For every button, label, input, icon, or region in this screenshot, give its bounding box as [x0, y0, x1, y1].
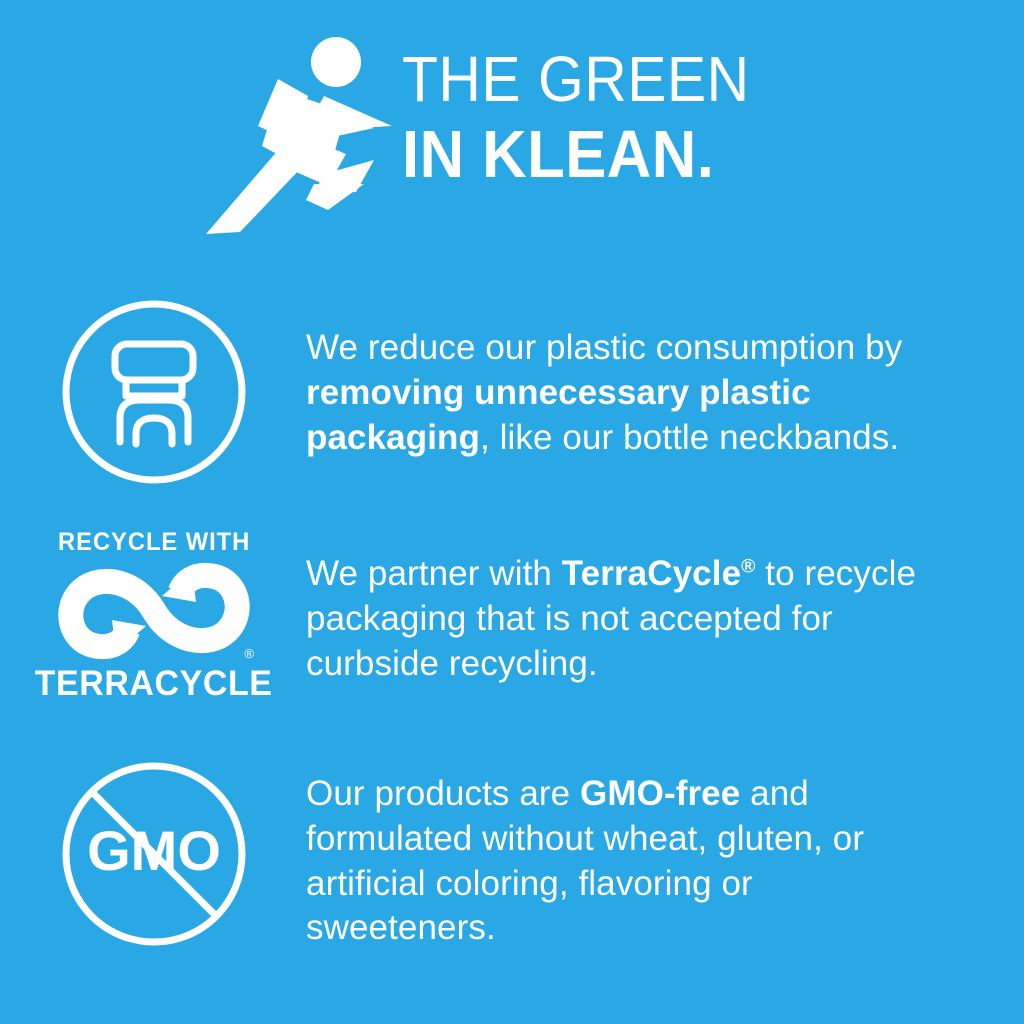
blurb-terracycle: We partner with TerraCycle® to recycle p…	[306, 528, 946, 686]
no-gmo-icon: GMO	[58, 758, 250, 950]
blurb-bottle: We reduce our plastic consumption by rem…	[306, 296, 946, 460]
blurb-run: GMO-free	[580, 774, 740, 813]
blurb-gmo: Our products are GMO-free and formulated…	[306, 758, 946, 951]
blurb-run: Our products are	[306, 774, 580, 813]
green-in-klean-poster: THE GREEN IN KLEAN. We redu	[0, 0, 1024, 1024]
terracycle-top-label: RECYCLE WITH	[58, 528, 250, 557]
terracycle-bottom-label: TERRACYCLE	[35, 664, 273, 704]
blurb-run: , like our bottle neckbands.	[480, 418, 899, 457]
registered-trademark-mark: ®	[244, 647, 254, 660]
brand-line-2: IN KLEAN.	[402, 121, 750, 188]
terracycle-infinity-loop-wrap: ®	[50, 560, 258, 662]
brand-wordmark: THE GREEN IN KLEAN.	[402, 48, 780, 188]
icon-cell-gmo: GMO	[0, 758, 300, 950]
icon-cell-bottle	[0, 296, 300, 488]
icon-cell-terracycle: RECYCLE WITH	[0, 528, 300, 704]
feature-row-bottle: We reduce our plastic consumption by rem…	[0, 296, 1024, 506]
recycle-infinity-arrows-icon	[50, 560, 258, 662]
bottle-neckband-icon	[58, 296, 250, 488]
feature-row-terracycle: RECYCLE WITH	[0, 528, 1024, 723]
terracycle-logo: RECYCLE WITH	[50, 528, 258, 704]
gmo-icon-label: GMO	[87, 819, 221, 882]
brand-line-1: THE GREEN	[402, 48, 750, 111]
text-cell-terracycle: We partner with TerraCycle® to recycle p…	[300, 528, 1024, 686]
text-cell-bottle: We reduce our plastic consumption by rem…	[300, 296, 1024, 460]
blurb-run: We partner with	[306, 554, 562, 593]
feature-row-gmo: GMO Our products are GMO-free and formul…	[0, 758, 1024, 968]
text-cell-gmo: Our products are GMO-free and formulated…	[300, 758, 1024, 951]
running-figure-logo	[196, 34, 396, 239]
registered-trademark-mark: ®	[741, 556, 755, 577]
poster-header: THE GREEN IN KLEAN.	[0, 0, 1024, 265]
blurb-run: TerraCycle®	[562, 554, 756, 593]
blurb-run: We reduce our plastic consumption by	[306, 328, 902, 367]
